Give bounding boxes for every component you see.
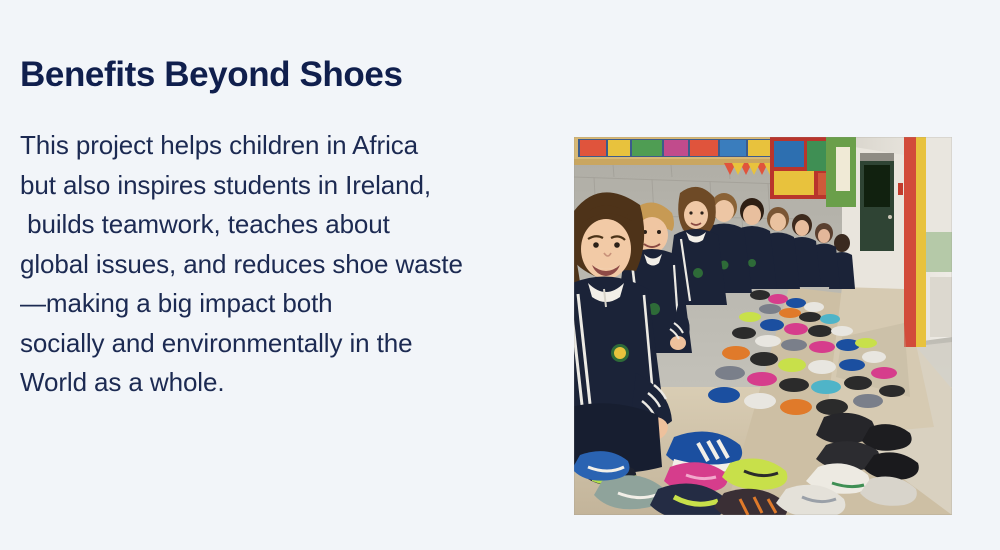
body-line: socially and environmentally in the — [20, 324, 520, 364]
body-line: World as a whole. — [20, 363, 520, 403]
page-title: Benefits Beyond Shoes — [20, 53, 403, 97]
body-line: —making a big impact both — [20, 284, 520, 324]
photo-illustration — [574, 137, 952, 515]
body-line: This project helps children in Africa — [20, 126, 520, 166]
body-line: global issues, and reduces shoe waste — [20, 245, 520, 285]
school-shoe-collection-photo — [574, 137, 952, 515]
body-line: builds teamwork, teaches about — [20, 205, 520, 245]
body-paragraph: This project helps children in Africa bu… — [20, 126, 520, 403]
slide-canvas: Benefits Beyond Shoes This project helps… — [0, 0, 1000, 550]
body-line: but also inspires students in Ireland, — [20, 166, 520, 206]
